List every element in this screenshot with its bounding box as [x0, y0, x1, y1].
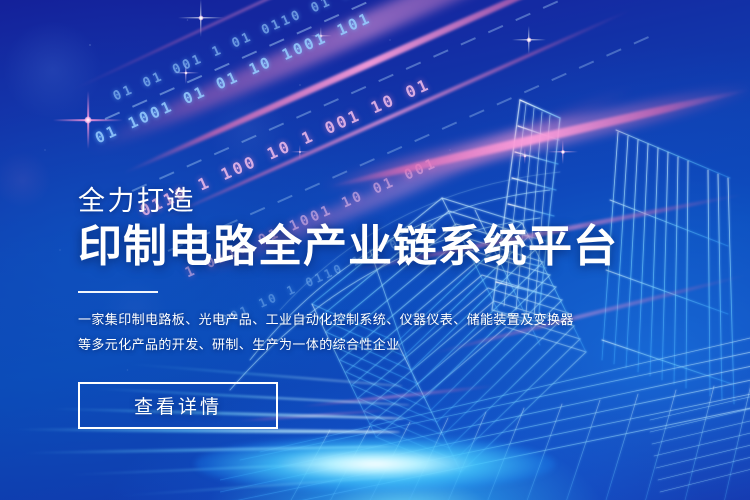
center-glow	[195, 436, 555, 492]
hero-subtitle-line-1: 一家集印制电路板、光电产品、工业自动化控制系统、仪器仪表、储能装置及变换器	[78, 307, 598, 332]
hero-content: 全力打造 印制电路全产业链系统平台 一家集印制电路板、光电产品、工业自动化控制系…	[78, 186, 598, 429]
hero-subtitle-line-2: 等多元化产品的开发、研制、生产为一体的综合性企业	[78, 332, 598, 357]
hero-headline: 印制电路全产业链系统平台	[78, 224, 598, 270]
hero-eyebrow: 全力打造	[78, 186, 598, 217]
hero-divider	[78, 291, 158, 293]
view-details-button[interactable]: 查看详情	[78, 382, 278, 429]
hero-subtitle: 一家集印制电路板、光电产品、工业自动化控制系统、仪器仪表、储能装置及变换器 等多…	[78, 307, 598, 357]
hero-banner: 01 1001 01 01 10 1001 101 0110 1 100 10 …	[0, 0, 750, 500]
